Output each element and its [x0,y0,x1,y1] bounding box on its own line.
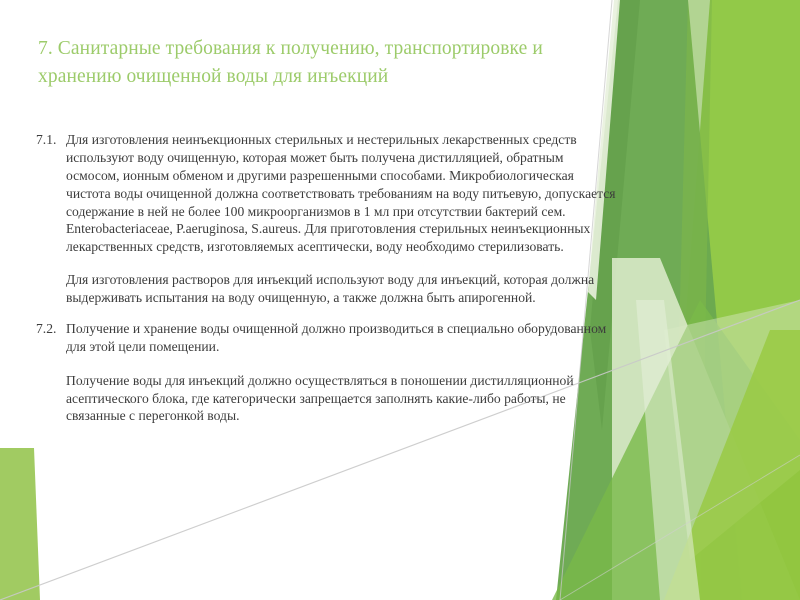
spacer-3 [36,356,618,372]
slide-body: 7.1.Для изготовления неинъекционных стер… [36,131,618,425]
hairline-diagonal-short [560,455,800,600]
shape-pale-overlay-right [664,300,800,560]
body-paragraph-7-1: 7.1.Для изготовления неинъекционных стер… [36,131,618,256]
paragraph-number-7-2: 7.2. [36,320,56,338]
shape-bottom-left-wedge [0,448,40,600]
body-paragraph-aseptic-block: Получение воды для инъекций должно осуще… [36,372,618,426]
body-paragraph-injection-water: Для изготовления растворов для инъекций … [36,271,618,307]
shape-mid-green-strip [672,0,712,600]
paragraph-number-7-1: 7.1. [36,131,56,149]
slide-canvas: 7. Санитарные требования к получению, тр… [0,0,800,600]
shape-bright-corner-wedge [664,330,800,600]
body-paragraph-7-2: 7.2.Получение и хранение воды очищенной … [36,320,618,356]
spacer-1 [36,256,618,271]
paragraph-text-aseptic-block: Получение воды для инъекций должно осуще… [66,373,574,424]
shape-pale-diagonal-sheet [612,258,800,600]
shape-right-bright-column [664,0,800,600]
paragraph-text-7-2: Получение и хранение воды очищенной долж… [66,321,606,354]
paragraph-text-injection-water: Для изготовления растворов для инъекций … [66,272,594,305]
spacer-2 [36,307,618,320]
shape-pale-vertical-sliver [636,300,700,600]
slide-title: 7. Санитарные требования к получению, тр… [38,35,598,90]
paragraph-text-7-1: Для изготовления неинъекционных стерильн… [66,132,616,254]
